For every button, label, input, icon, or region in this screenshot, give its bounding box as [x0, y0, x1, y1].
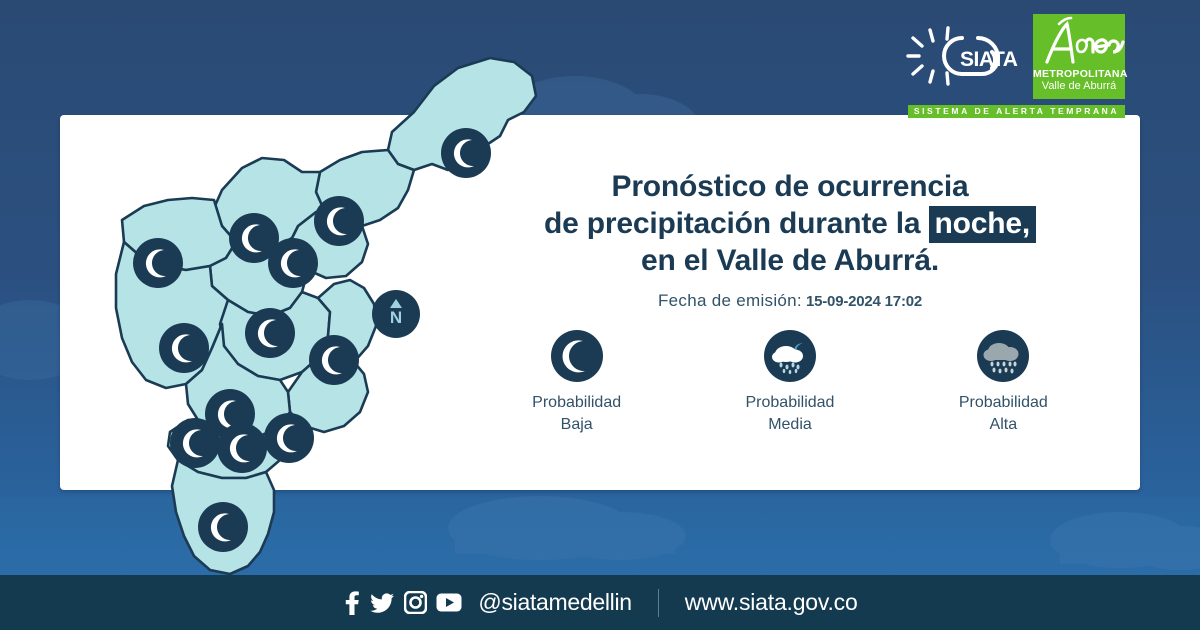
legend-label-line2: Alta — [918, 414, 1088, 436]
cloud-heavy-rain-icon — [977, 330, 1029, 382]
legend-label-baja: Probabilidad Baja — [492, 392, 662, 436]
area-metropolitana-logo: METROPOLITANA Valle de Aburrá — [1033, 14, 1125, 99]
legend-label-line1: Probabilidad — [492, 392, 662, 414]
map-marker-moon — [133, 238, 183, 288]
title-line-1: Pronóstico de ocurrencia — [470, 168, 1110, 205]
title-line-2: de precipitación durante la noche, — [470, 205, 1110, 242]
map-marker-moon — [309, 335, 359, 385]
title-block: Pronóstico de ocurrencia de precipitació… — [470, 168, 1110, 311]
area-script-wordmark — [1033, 16, 1125, 68]
emission-value: 15-09-2024 17:02 — [806, 293, 922, 310]
legend-label-alta: Probabilidad Alta — [918, 392, 1088, 436]
emission-date: Fecha de emisión:15-09-2024 17:02 — [470, 291, 1110, 311]
map-marker-moon — [314, 196, 364, 246]
logo-group: SIATA METROPOLITANA Valle de Aburrá SIST… — [900, 14, 1130, 109]
title-line-3: en el Valle de Aburrá. — [470, 242, 1110, 279]
moon-icon — [551, 330, 603, 382]
legend-label-line1: Probabilidad — [918, 392, 1088, 414]
legend-label-line1: Probabilidad — [705, 392, 875, 414]
map-marker-moon — [217, 423, 267, 473]
legend-item-media: Probabilidad Media — [705, 330, 875, 436]
siata-logo: SIATA — [900, 22, 1025, 90]
forecast-title: Pronóstico de ocurrencia de precipitació… — [470, 168, 1110, 279]
website-url[interactable]: www.siata.gov.co — [685, 589, 858, 616]
svg-text:N: N — [390, 308, 402, 327]
title-line-2-text: de precipitación durante la — [544, 207, 920, 240]
compass-rose: N — [372, 290, 420, 338]
emission-label: Fecha de emisión: — [658, 291, 802, 310]
map-marker-moon — [198, 502, 248, 552]
twitter-icon[interactable] — [370, 591, 395, 615]
footer-content: @siatamedellin www.siata.gov.co — [0, 575, 1200, 630]
legend-item-baja: Probabilidad Baja — [492, 330, 662, 436]
map-marker-moon — [170, 418, 220, 468]
siata-wordmark: SIATA — [960, 48, 1018, 71]
social-icons — [342, 591, 462, 615]
legend-label-media: Probabilidad Media — [705, 392, 875, 436]
youtube-icon[interactable] — [436, 593, 462, 612]
cloud-rain-moon-icon — [764, 330, 816, 382]
legend-item-alta: Probabilidad Alta — [918, 330, 1088, 436]
legend-label-line2: Baja — [492, 414, 662, 436]
social-handle[interactable]: @siatamedellin — [478, 589, 631, 616]
map-marker-moon — [229, 213, 279, 263]
facebook-icon[interactable] — [342, 591, 361, 615]
map-marker-moon — [264, 413, 314, 463]
map-marker-moon — [159, 323, 209, 373]
probability-legend: Probabilidad Baja — [470, 330, 1110, 436]
title-highlight-noche: noche, — [929, 206, 1036, 243]
siata-tagline-bar: SISTEMA DE ALERTA TEMPRANA — [908, 105, 1125, 118]
legend-label-line2: Media — [705, 414, 875, 436]
area-valle-text: Valle de Aburrá — [1033, 80, 1125, 93]
map-marker-moon — [245, 308, 295, 358]
infographic-root: N — [0, 0, 1200, 630]
area-metropolitana-text: METROPOLITANA — [1033, 68, 1125, 80]
footer-divider — [658, 589, 659, 617]
instagram-icon[interactable] — [404, 591, 427, 614]
